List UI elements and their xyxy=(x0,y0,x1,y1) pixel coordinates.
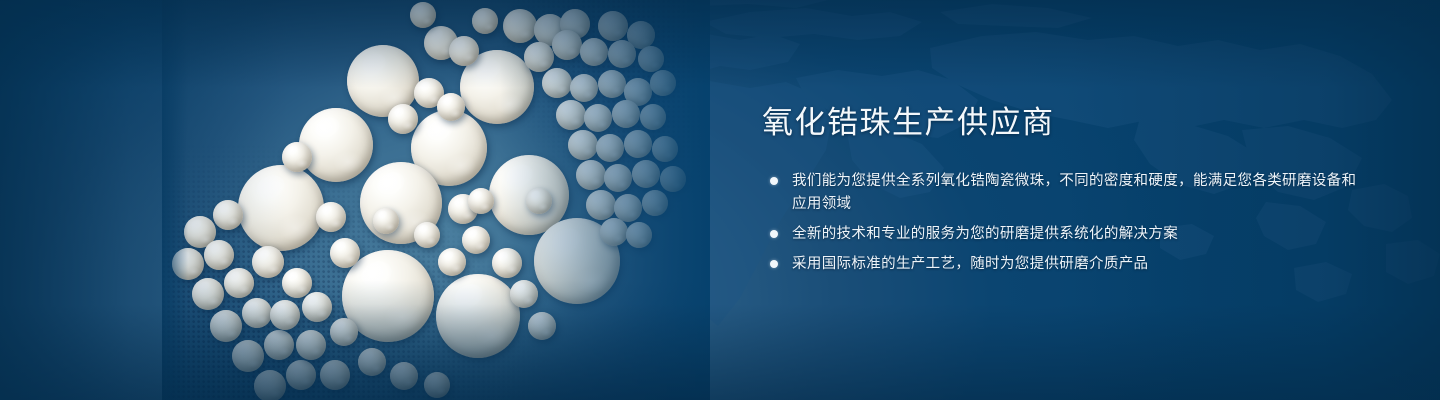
hero-banner: 氧化锆珠生产供应商 我们能为您提供全系列氧化锆陶瓷微珠，不同的密度和硬度，能满足… xyxy=(0,0,1440,400)
list-item-label: 采用国际标准的生产工艺，随时为您提供研磨介质产品 xyxy=(792,253,1362,276)
list-item: 我们能为您提供全系列氧化锆陶瓷微珠，不同的密度和硬度，能满足您各类研磨设备和应用… xyxy=(762,170,1362,216)
list-item-label: 全新的技术和专业的服务为您的研磨提供系统化的解决方案 xyxy=(792,223,1362,246)
page-title: 氧化锆珠生产供应商 xyxy=(762,104,1362,142)
list-item: 采用国际标准的生产工艺，随时为您提供研磨介质产品 xyxy=(762,253,1362,276)
bullet-dot-icon xyxy=(770,177,778,185)
bullet-dot-icon xyxy=(770,260,778,268)
bullet-dot-icon xyxy=(770,230,778,238)
list-item-label: 我们能为您提供全系列氧化锆陶瓷微珠，不同的密度和硬度，能满足您各类研磨设备和应用… xyxy=(792,170,1362,216)
banner-content: 氧化锆珠生产供应商 我们能为您提供全系列氧化锆陶瓷微珠，不同的密度和硬度，能满足… xyxy=(762,104,1362,276)
feature-list: 我们能为您提供全系列氧化锆陶瓷微珠，不同的密度和硬度，能满足您各类研磨设备和应用… xyxy=(762,170,1362,276)
list-item: 全新的技术和专业的服务为您的研磨提供系统化的解决方案 xyxy=(762,223,1362,246)
